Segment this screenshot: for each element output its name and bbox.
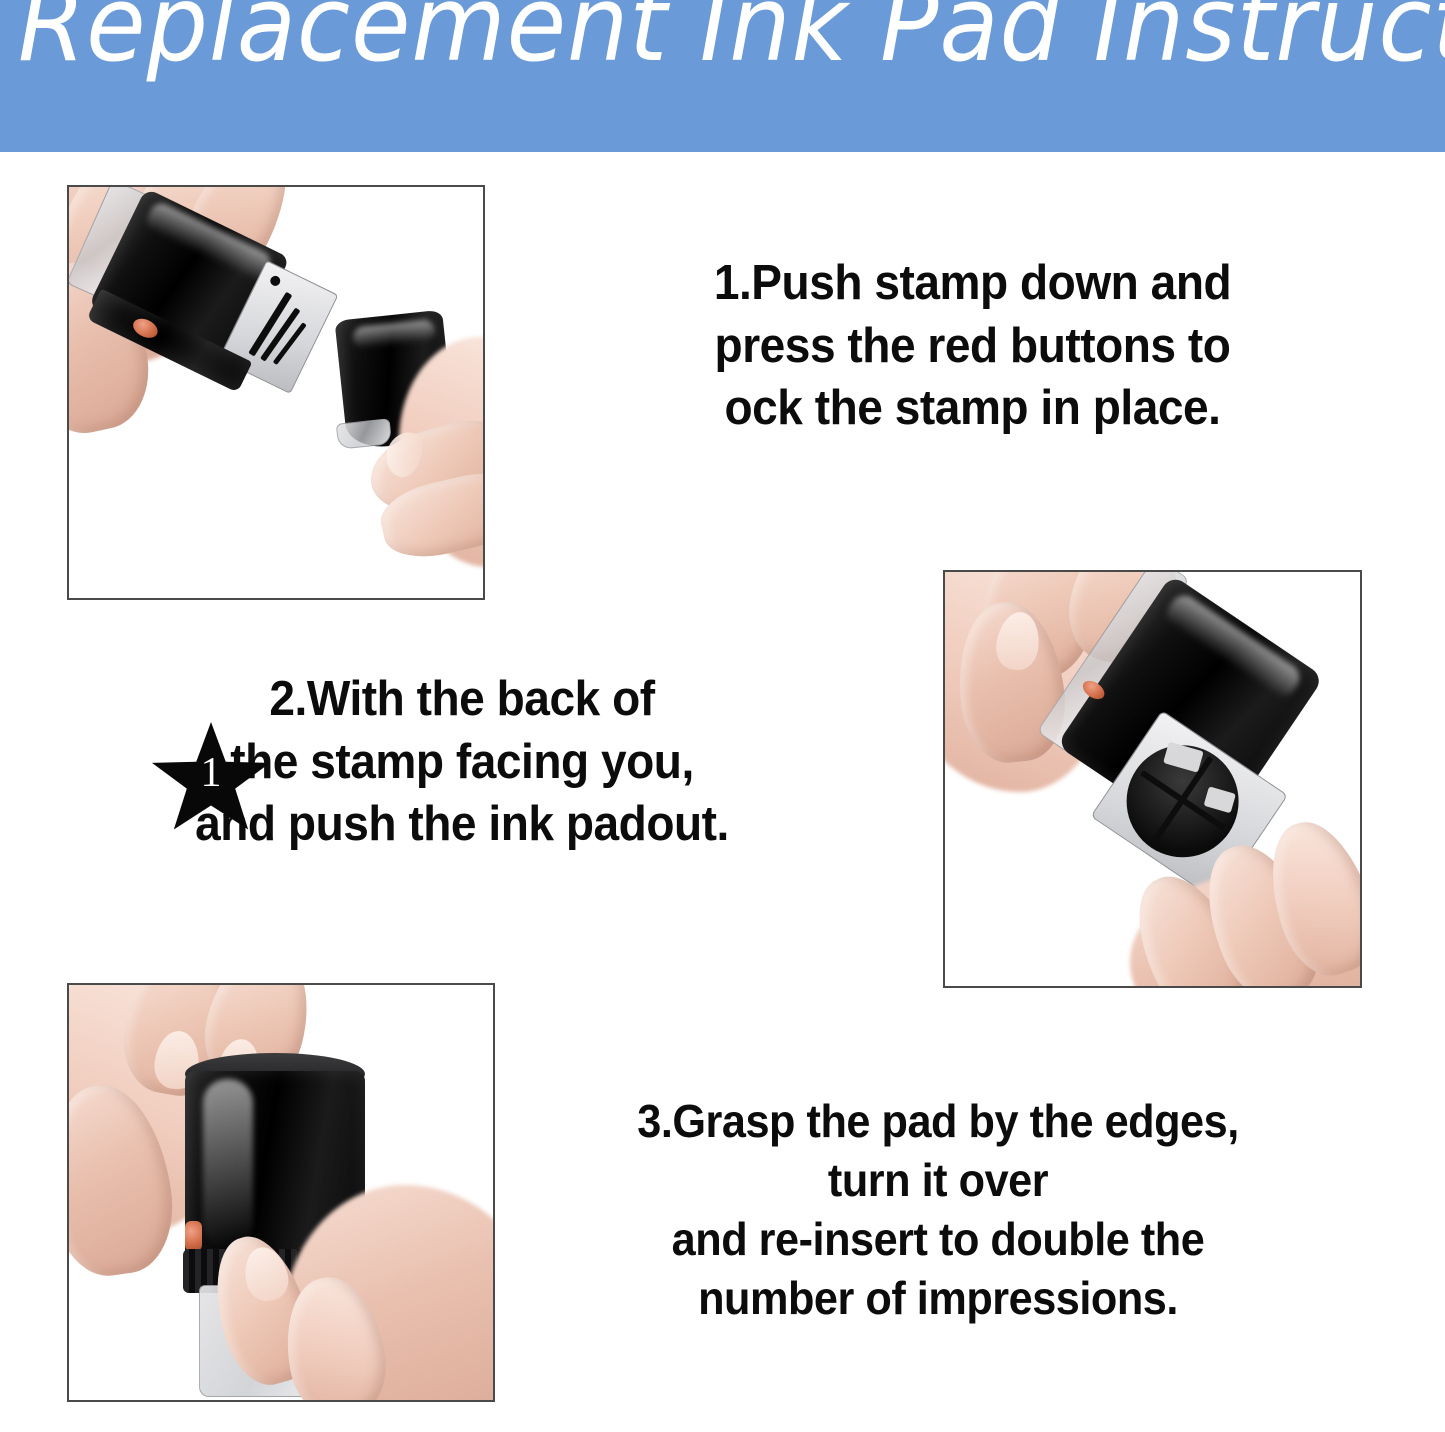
step-1-line-3: ock the stamp in place.: [622, 377, 1322, 440]
step-1-line-1: 1.Push stamp down and: [622, 252, 1322, 315]
step-3-instruction-text: 3.Grasp the pad by the edges, turn it ov…: [498, 1092, 1378, 1328]
stamp-barrel-highlight: [203, 1079, 253, 1249]
step-3-line-3: and re-insert to double the: [524, 1210, 1351, 1269]
step-1-photo-panel: 1: [67, 185, 485, 600]
step-1-instruction-text: 1.Push stamp down and press the red butt…: [600, 252, 1345, 440]
step-3-line-1: 3.Grasp the pad by the edges,: [524, 1092, 1351, 1151]
page-title-text: Replacement Ink Pad Instruction: [18, 0, 1445, 76]
header-banner: Replacement Ink Pad Instruction: [0, 0, 1445, 152]
step-1-photo: [69, 187, 483, 598]
step-3-line-2: turn it over: [524, 1151, 1351, 1210]
step-3-photo: [69, 985, 493, 1400]
step-2-photo: [945, 572, 1360, 986]
step-1-line-2: press the red buttons to: [622, 315, 1322, 378]
step-3-photo-panel: 3: [67, 983, 495, 1402]
step-2-photo-panel: 2: [943, 570, 1362, 988]
step-1-badge-number: 1: [152, 752, 270, 794]
instruction-sheet: Replacement Ink Pad Instruction: [0, 0, 1445, 1432]
page-title: Replacement Ink Pad Instruction: [18, 24, 1445, 128]
red-lock-button-3: [185, 1221, 202, 1251]
step-1-badge: 1: [152, 722, 270, 834]
step-3-line-4: number of impressions.: [524, 1269, 1351, 1328]
